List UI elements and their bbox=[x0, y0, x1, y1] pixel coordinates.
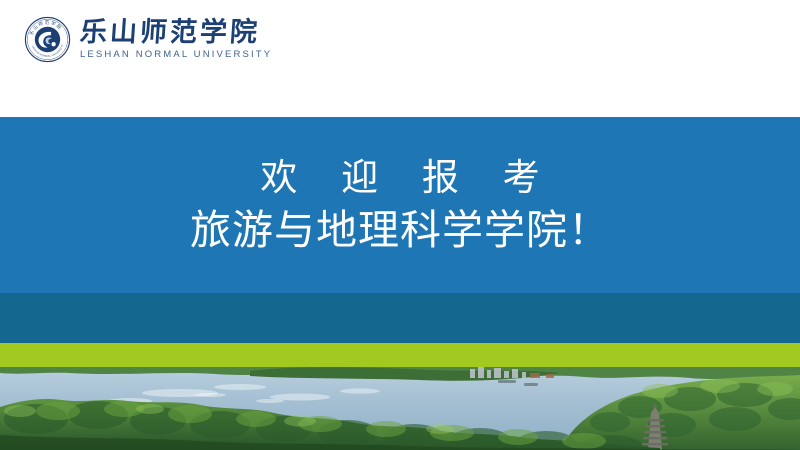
university-seal-icon: 乐山师范学院 LESHAN NORMAL UNIVERSITY bbox=[24, 16, 71, 63]
slide-canvas: 乐山师范学院 LESHAN NORMAL UNIVERSITY 乐山师范学院 L… bbox=[0, 0, 800, 450]
campus-landscape-photo bbox=[0, 367, 800, 450]
teal-divider-band bbox=[0, 293, 800, 343]
headline-block: 欢 迎 报 考 旅游与地理科学学院！ bbox=[0, 117, 800, 293]
university-name-cn: 乐山师范学院 bbox=[79, 19, 261, 46]
headline-secondary: 旅游与地理科学学院！ bbox=[190, 210, 610, 251]
slide-header: 乐山师范学院 LESHAN NORMAL UNIVERSITY 乐山师范学院 L… bbox=[0, 0, 800, 117]
primary-blue-band: 欢 迎 报 考 旅游与地理科学学院！ bbox=[0, 117, 800, 293]
university-name-block: 乐山师范学院 LESHAN NORMAL UNIVERSITY bbox=[80, 19, 272, 60]
headline-primary: 欢 迎 报 考 bbox=[244, 159, 555, 196]
green-accent-band bbox=[0, 343, 800, 367]
university-logo: 乐山师范学院 LESHAN NORMAL UNIVERSITY 乐山师范学院 L… bbox=[24, 16, 272, 63]
university-name-en: LESHAN NORMAL UNIVERSITY bbox=[80, 50, 272, 60]
